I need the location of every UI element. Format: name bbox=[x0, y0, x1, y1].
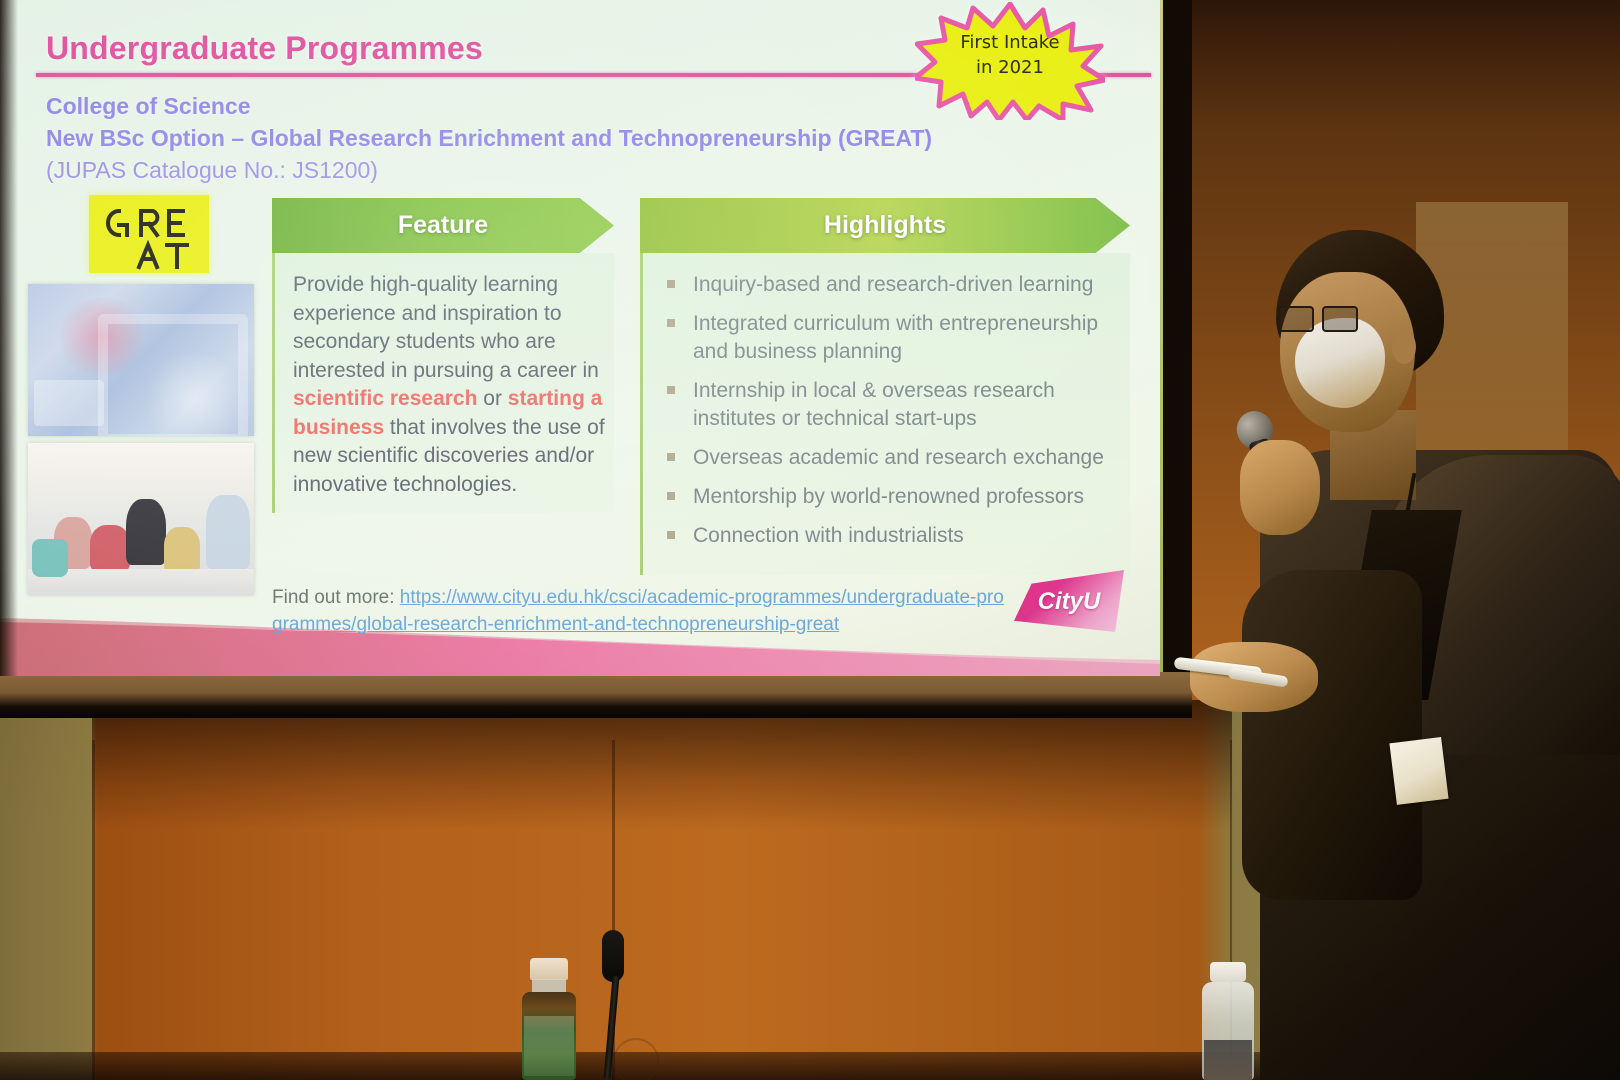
wall-seam bbox=[92, 740, 95, 1080]
badge-text: First Intake in 2021 bbox=[915, 30, 1105, 80]
bullet-square-icon bbox=[667, 386, 675, 394]
bullet-square-icon bbox=[667, 492, 675, 500]
find-out-more: Find out more: https://www.cityu.edu.hk/… bbox=[272, 584, 1012, 638]
bottle-cap bbox=[1210, 962, 1246, 982]
feature-body: Provide high-quality learning experience… bbox=[272, 253, 614, 513]
screen-left-shadow bbox=[0, 0, 18, 676]
feature-text-pre: Provide high-quality learning experience… bbox=[293, 273, 599, 382]
presenter-speaker bbox=[1180, 210, 1620, 1080]
list-item: Integrated curriculum with entrepreneurs… bbox=[661, 310, 1122, 377]
highlights-list: Inquiry-based and research-driven learni… bbox=[661, 271, 1122, 561]
find-out-more-label: Find out more: bbox=[272, 587, 400, 608]
feature-paragraph: Provide high-quality learning experience… bbox=[293, 271, 606, 499]
list-item-label: Connection with industrialists bbox=[693, 524, 964, 547]
presenter-ear bbox=[1392, 330, 1416, 364]
great-logo-icon bbox=[89, 195, 209, 273]
list-item-label: Integrated curriculum with entrepreneurs… bbox=[693, 312, 1098, 363]
bullet-square-icon bbox=[667, 531, 675, 539]
glasses-icon bbox=[1278, 306, 1358, 332]
starburst-badge: First Intake in 2021 bbox=[915, 2, 1105, 120]
bullet-square-icon bbox=[667, 319, 675, 327]
feature-highlight-research: scientific research bbox=[293, 387, 477, 410]
badge-line2: in 2021 bbox=[915, 55, 1105, 80]
list-item-label: Inquiry-based and research-driven learni… bbox=[693, 273, 1093, 296]
bottle-cap bbox=[530, 958, 568, 980]
list-item: Connection with industrialists bbox=[661, 522, 1122, 561]
presenter-arm bbox=[1242, 570, 1422, 900]
highlights-body: Inquiry-based and research-driven learni… bbox=[640, 253, 1130, 575]
badge-line1: First Intake bbox=[915, 30, 1105, 55]
cityu-logo-text: CityU bbox=[1014, 588, 1124, 616]
feature-text-mid: or bbox=[477, 387, 507, 410]
highlights-column: Highlights Inquiry-based and research-dr… bbox=[640, 198, 1130, 575]
list-item: Mentorship by world-renowned professors bbox=[661, 483, 1122, 522]
list-item: Overseas academic and research exchange bbox=[661, 444, 1122, 483]
list-item-label: Overseas academic and research exchange bbox=[693, 446, 1104, 469]
projected-slide: Undergraduate Programmes College of Scie… bbox=[0, 0, 1160, 676]
highlights-heading: Highlights bbox=[640, 198, 1130, 253]
feature-heading: Feature bbox=[272, 198, 614, 253]
bullet-square-icon bbox=[667, 453, 675, 461]
bottle-neck bbox=[532, 979, 566, 993]
list-item: Internship in local & overseas research … bbox=[661, 377, 1122, 444]
scene-root: Undergraduate Programmes College of Scie… bbox=[0, 0, 1620, 1080]
gooseneck-mic-base bbox=[613, 1038, 659, 1080]
green-tea-bottle bbox=[518, 958, 580, 1080]
list-item-label: Mentorship by world-renowned professors bbox=[693, 485, 1084, 508]
name-badge bbox=[1389, 737, 1448, 805]
photo-technology-circuit bbox=[28, 284, 254, 436]
cityu-logo: CityU bbox=[1014, 570, 1124, 632]
bottle-label bbox=[1204, 1040, 1252, 1080]
list-item: Inquiry-based and research-driven learni… bbox=[661, 271, 1122, 310]
wall-panel-left bbox=[0, 700, 92, 1080]
water-bottle bbox=[1196, 962, 1258, 1080]
photo-students-lab bbox=[28, 443, 254, 595]
page-title: Undergraduate Programmes bbox=[46, 30, 483, 67]
bottle-label bbox=[524, 1016, 574, 1076]
subtitle-line-jupas: (JUPAS Catalogue No.: JS1200) bbox=[46, 154, 1126, 186]
feature-column: Feature Provide high-quality learning ex… bbox=[272, 198, 614, 513]
list-item-label: Internship in local & overseas research … bbox=[693, 379, 1055, 430]
subtitle-line-option: New BSc Option – Global Research Enrichm… bbox=[46, 122, 1126, 154]
gooseneck-mic-head bbox=[602, 930, 624, 982]
presenter-hand-mic bbox=[1240, 440, 1320, 535]
screen-bottom-bar bbox=[0, 672, 1192, 718]
great-logo bbox=[89, 195, 209, 273]
bullet-square-icon bbox=[667, 280, 675, 288]
